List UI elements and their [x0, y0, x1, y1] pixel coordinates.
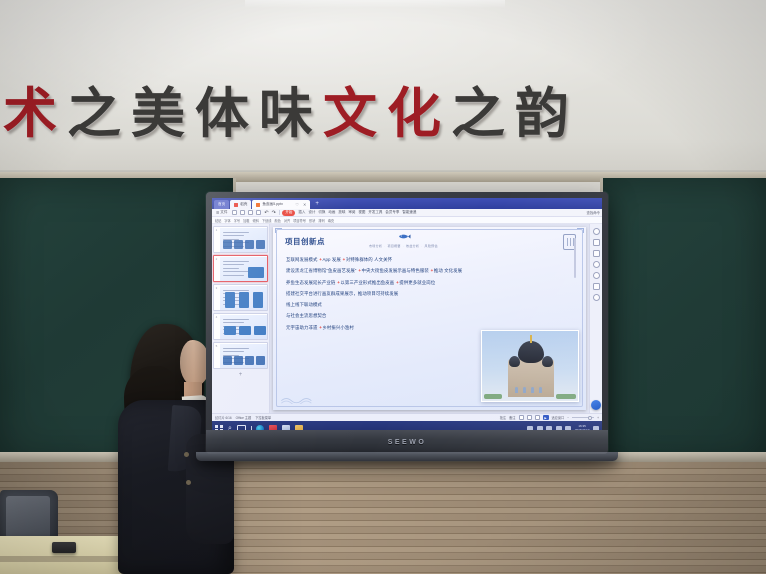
- slide-illustration[interactable]: [481, 330, 579, 402]
- thumbnail-chip: [224, 326, 236, 335]
- slide-thumbnail-4[interactable]: 4: [213, 313, 268, 340]
- bullet-text-0: 建设黑龙江省博物馆“鱼皮画艺发展”: [286, 268, 358, 273]
- ribbon-tab-6[interactable]: 视图: [358, 210, 365, 215]
- thumbnail-text-line: [223, 268, 239, 269]
- slide-bullet-5: 与社会主流思想契合: [286, 313, 578, 318]
- thumbnail-image: [248, 267, 264, 278]
- thumbnail-text-line: [223, 264, 244, 265]
- format-tool-1[interactable]: 字体: [224, 218, 230, 223]
- motto-char-5: 味: [256, 69, 320, 148]
- smart-display[interactable]: 首页 稻壳 鱼皮画5.pptx ♡ ✕ +: [206, 192, 608, 454]
- zoom-slider[interactable]: [572, 417, 594, 418]
- thumbnail-preview: [220, 257, 267, 281]
- tab-home[interactable]: 首页: [214, 200, 229, 209]
- wave-decoration: [281, 394, 315, 404]
- motto-char-2: 美: [128, 69, 192, 148]
- thumbnail-text-line: [223, 275, 244, 276]
- ribbon-tab-0[interactable]: 插入: [298, 210, 305, 215]
- wall-motto: 术之美体味文化之韵: [0, 72, 560, 144]
- tab-file-label: 鱼皮画5.pptx: [262, 202, 283, 207]
- breadcrumb-separator: ·: [403, 244, 404, 248]
- bullet-text-0: 养鱼生态发展延长产业链: [286, 280, 337, 285]
- cathedral-side-dome-left: [509, 356, 520, 367]
- canvas-scrollbar[interactable]: [574, 238, 576, 278]
- thumbnail-shape: [234, 356, 243, 365]
- motto-char-7: 化: [384, 69, 448, 148]
- file-menu-label: 文件: [220, 210, 227, 215]
- ribbon-tab-start[interactable]: 开始: [282, 210, 295, 216]
- bullet-text-2: 以第三产业形式推出鱼皮画: [340, 280, 395, 285]
- view-sorter-icon[interactable]: [527, 415, 532, 420]
- thumbnail-chip: [239, 326, 251, 335]
- thumbnail-preview: [220, 286, 267, 310]
- thumbnail-card: [239, 292, 249, 308]
- new-tab-button[interactable]: +: [311, 201, 323, 207]
- illustration-foliage-left: [484, 394, 502, 399]
- current-slide[interactable]: 项目创新点 市场分析·项目概要·效益分析·风险预估: [273, 227, 586, 410]
- thumbnail-number: 4: [214, 314, 219, 339]
- ribbon-tab-3[interactable]: 动画: [328, 210, 335, 215]
- slide-bullet-1: 建设黑龙江省博物馆“鱼皮画艺发展” +中央大街鱼皮发展示画与特色服装 +推动 文…: [286, 268, 578, 273]
- motto-char-1: 之: [64, 69, 128, 148]
- template-icon[interactable]: [593, 283, 600, 290]
- ribbon-divider: [279, 210, 280, 215]
- ribbon-tab-8[interactable]: 会员专享: [385, 210, 399, 215]
- ai-assistant-icon[interactable]: [593, 294, 600, 301]
- print-icon[interactable]: [240, 210, 245, 215]
- thumbnail-text-line: [223, 290, 249, 291]
- file-menu-button[interactable]: ☰ 文件: [214, 210, 229, 215]
- fish-icon: [397, 233, 411, 240]
- thumbnail-preview: [220, 228, 267, 252]
- cathedral-spire: [530, 335, 532, 343]
- image-tool-icon[interactable]: [593, 250, 600, 257]
- thumbnail-text-line: [223, 351, 244, 352]
- settings-icon[interactable]: [593, 272, 600, 279]
- bullet-text-0: 搭建社交平台进行画友群成果展示，推动项目可持续发展: [286, 291, 398, 296]
- thumbnail-shape: [256, 356, 265, 365]
- thumbnail-text-line: [223, 319, 249, 320]
- thumbnail-shape: [223, 356, 232, 365]
- motto-char-0: 术: [0, 69, 64, 148]
- breadcrumb-item-2[interactable]: 效益分析: [406, 244, 419, 248]
- display-mount-lip: [196, 452, 618, 461]
- format-tool-5[interactable]: 下划线: [262, 218, 272, 223]
- zoom-out-button[interactable]: −: [567, 416, 569, 420]
- classroom-scene: 术之美体味文化之韵 首页: [0, 0, 766, 574]
- slide-bullet-4: 线上线下联动模式: [286, 302, 578, 307]
- fit-window-label[interactable]: 适应窗口: [552, 415, 565, 420]
- wps-status-bar[interactable]: 幻灯片 6/16 Office 主题 下拉板菜单 批注 备注 ▶ 适应窗口 −: [212, 413, 602, 421]
- tab-presentation-file[interactable]: 鱼皮画5.pptx ♡ ✕: [252, 200, 310, 209]
- status-right-group[interactable]: 批注 备注 ▶ 适应窗口 − +: [500, 415, 599, 420]
- thumbnail-shape: [256, 240, 265, 249]
- save-icon[interactable]: [232, 210, 237, 215]
- slide-corner-top-left: [275, 228, 282, 233]
- slide-bullet-0: 互联网发展模式 +App 发展 +对特殊群体的 人文关怀: [286, 257, 578, 262]
- add-slide-button[interactable]: +: [213, 371, 268, 379]
- thumbnail-shape: [223, 240, 232, 249]
- cathedral-window-3: [531, 387, 534, 393]
- thumbnail-shape: [245, 240, 254, 249]
- bullet-text-2: 乡村振兴小渔村: [322, 325, 353, 330]
- cathedral-window-2: [523, 387, 526, 393]
- breadcrumb-item-0[interactable]: 市场分析: [369, 244, 382, 248]
- chair-seat: [6, 496, 50, 538]
- language-label[interactable]: 下拉板菜单: [255, 415, 271, 420]
- breadcrumb-separator: ·: [384, 244, 385, 248]
- zoom-slider-knob[interactable]: [588, 416, 592, 420]
- tab-pin-icon[interactable]: ♡: [295, 202, 299, 207]
- right-tool-rail[interactable]: [589, 224, 602, 413]
- slide-bullet-3: 搭建社交平台进行画友群成果展示，推动项目可持续发展: [286, 291, 578, 296]
- thumbnail-text-line: [223, 235, 244, 236]
- display-bottom-bezel: SEEWO: [206, 430, 608, 454]
- format-tool-6[interactable]: 颜色: [274, 218, 280, 223]
- ribbon-tab-2[interactable]: 切换: [318, 210, 325, 215]
- slide-thumbnail-3[interactable]: 3: [213, 284, 268, 311]
- bullet-text-4: 提供更多就业岗位: [399, 280, 435, 285]
- tab-home-label: 首页: [218, 202, 225, 207]
- slide-thumbnail-panel[interactable]: 12345+: [212, 224, 270, 413]
- thumbnail-text-line: [223, 271, 249, 272]
- ai-helper-button[interactable]: [591, 400, 601, 410]
- tab-docer-label: 稻壳: [240, 202, 247, 207]
- motto-char-9: 韵: [512, 69, 576, 148]
- slide-title: 项目创新点: [285, 236, 325, 247]
- theme-label[interactable]: Office 主题: [236, 415, 252, 420]
- bullet-text-0: 线上线下联动模式: [286, 302, 322, 307]
- bullet-text-2: App 发展: [322, 257, 342, 262]
- slideshow-play-button[interactable]: ▶: [543, 415, 549, 420]
- wps-office-window[interactable]: 首页 稻壳 鱼皮画5.pptx ♡ ✕ +: [212, 198, 602, 436]
- thumbnail-chip: [254, 326, 266, 335]
- wps-workspace[interactable]: 12345+ 项目创新点: [212, 224, 602, 413]
- thumbnail-shape: [245, 356, 254, 365]
- bullet-text-4: 对特殊群体的 人文关怀: [346, 257, 392, 262]
- cathedral-side-dome-right: [542, 356, 553, 367]
- format-tool-4[interactable]: 倾斜: [253, 218, 259, 223]
- text-tool-icon[interactable]: [593, 239, 600, 246]
- thumbnail-text-line: [223, 261, 249, 262]
- thumbnail-number: 5: [214, 343, 219, 368]
- thumbnail-text-line: [223, 232, 249, 233]
- motto-char-6: 文: [320, 69, 384, 148]
- cathedral-window-1: [515, 387, 518, 393]
- ribbon-tab-5[interactable]: 审阅: [348, 210, 355, 215]
- blackboard-right: [600, 178, 766, 460]
- view-reading-icon[interactable]: [535, 415, 540, 420]
- wps-ribbon-tabs[interactable]: ☰ 文件 ↶ ↷ 开始 插入设计切换动画放映审阅视图开发工具会员专享智能速递 查…: [212, 209, 602, 217]
- illustration-foliage-right: [556, 394, 576, 399]
- preview-icon[interactable]: [248, 210, 253, 215]
- cathedral-main-dome: [518, 341, 544, 363]
- coat-button-bottom: [186, 480, 191, 485]
- display-screen[interactable]: 首页 稻壳 鱼皮画5.pptx ♡ ✕ +: [212, 198, 602, 436]
- undo-icon[interactable]: ↶: [264, 210, 268, 216]
- ribbon-tab-4[interactable]: 放映: [338, 210, 345, 215]
- display-brand-label: SEEWO: [388, 439, 427, 446]
- wps-format-toolbar[interactable]: 粘贴字体字号加粗倾斜下划线颜色对齐项目符号形状排列填充: [212, 217, 602, 224]
- coat-button-top: [184, 452, 189, 457]
- slide-bullet-6: 元宇宙助力非遗 +乡村振兴小渔村: [286, 325, 578, 330]
- bullet-text-0: 互联网发展模式: [286, 257, 319, 262]
- thumbnail-number: 3: [214, 285, 219, 310]
- bullet-text-0: 与社会主流思想契合: [286, 313, 326, 318]
- format-tool-9[interactable]: 形状: [309, 218, 315, 223]
- slide-canvas[interactable]: 项目创新点 市场分析·项目概要·效益分析·风险预估: [270, 224, 589, 413]
- bullet-text-4: 推动 文化发展: [434, 268, 462, 273]
- redo-icon[interactable]: ↷: [272, 210, 276, 216]
- cathedral-window-4: [539, 387, 542, 393]
- format-tool-2[interactable]: 字号: [234, 218, 240, 223]
- remark-button[interactable]: 批注: [500, 415, 506, 420]
- motto-char-4: 体: [192, 69, 256, 148]
- thumbnail-preview: [220, 344, 267, 368]
- thumbnail-text-line: [223, 322, 244, 323]
- format-tool-11[interactable]: 填充: [328, 218, 334, 223]
- ribbon-tab-7[interactable]: 开发工具: [368, 210, 382, 215]
- ribbon-right-tools[interactable]: 查找命令: [586, 210, 600, 215]
- search-command-label[interactable]: 查找命令: [586, 210, 600, 215]
- ribbon-tab-1[interactable]: 设计: [308, 210, 315, 215]
- slide-thumbnail-2[interactable]: 2: [213, 255, 268, 282]
- note-button[interactable]: 备注: [509, 415, 515, 420]
- thumbnail-shape: [234, 240, 243, 249]
- thumbnail-number: 1: [214, 227, 219, 252]
- zoom-in-button[interactable]: +: [597, 416, 599, 420]
- export-icon[interactable]: [256, 210, 261, 215]
- remote-control[interactable]: [52, 542, 76, 553]
- effects-icon[interactable]: [593, 261, 600, 268]
- format-tool-3[interactable]: 加粗: [243, 218, 249, 223]
- format-tool-10[interactable]: 排列: [318, 218, 324, 223]
- wps-tab-bar[interactable]: 首页 稻壳 鱼皮画5.pptx ♡ ✕ +: [212, 198, 602, 209]
- bullet-text-2: 中央大街鱼皮发展示画与特色服装: [361, 268, 430, 273]
- thumbnail-number: 2: [214, 256, 219, 281]
- thumbnail-text-line: [223, 348, 249, 349]
- slide-count-label: 幻灯片 6/16: [215, 415, 232, 420]
- thumbnail-preview: [220, 315, 267, 339]
- wps-ppt-icon: [234, 203, 238, 207]
- slide-corner-top-right: [577, 228, 584, 233]
- format-tool-0[interactable]: 粘贴: [215, 218, 221, 223]
- tab-close-icon[interactable]: ✕: [303, 202, 306, 207]
- ribbon-tab-9[interactable]: 智能速递: [402, 210, 416, 215]
- pptx-file-icon: [256, 203, 260, 207]
- slide-thumbnail-5[interactable]: 5: [213, 342, 268, 369]
- hamburger-icon: ☰: [216, 211, 219, 215]
- presenter-face-shadow: [180, 342, 194, 384]
- breadcrumb-separator: ·: [421, 244, 422, 248]
- bullet-text-0: 元宇宙助力非遗: [286, 325, 319, 330]
- slide-bullet-list: 互联网发展模式 +App 发展 +对特殊群体的 人文关怀建设黑龙江省博物馆“鱼皮…: [286, 257, 578, 336]
- ribbon-tab-list[interactable]: 插入设计切换动画放映审阅视图开发工具会员专享智能速递: [298, 210, 416, 215]
- thumbnail-card: [225, 292, 235, 308]
- format-tool-7[interactable]: 对齐: [284, 218, 290, 223]
- slide-thumbnail-1[interactable]: 1: [213, 226, 268, 253]
- motto-char-8: 之: [448, 69, 512, 148]
- breadcrumb-item-1[interactable]: 项目概要: [388, 244, 401, 248]
- format-tool-8[interactable]: 项目符号: [293, 218, 306, 223]
- view-normal-icon[interactable]: [519, 415, 524, 420]
- design-idea-icon[interactable]: [593, 228, 600, 235]
- breadcrumb-item-3[interactable]: 风险预估: [425, 244, 438, 248]
- slide-bullet-2: 养鱼生态发展延长产业链 +以第三产业形式推出鱼皮画 +提供更多就业岗位: [286, 280, 578, 285]
- tab-docer[interactable]: 稻壳: [230, 200, 251, 209]
- slide-breadcrumb: 市场分析·项目概要·效益分析·风险预估: [369, 244, 438, 248]
- thumbnail-card: [253, 292, 263, 308]
